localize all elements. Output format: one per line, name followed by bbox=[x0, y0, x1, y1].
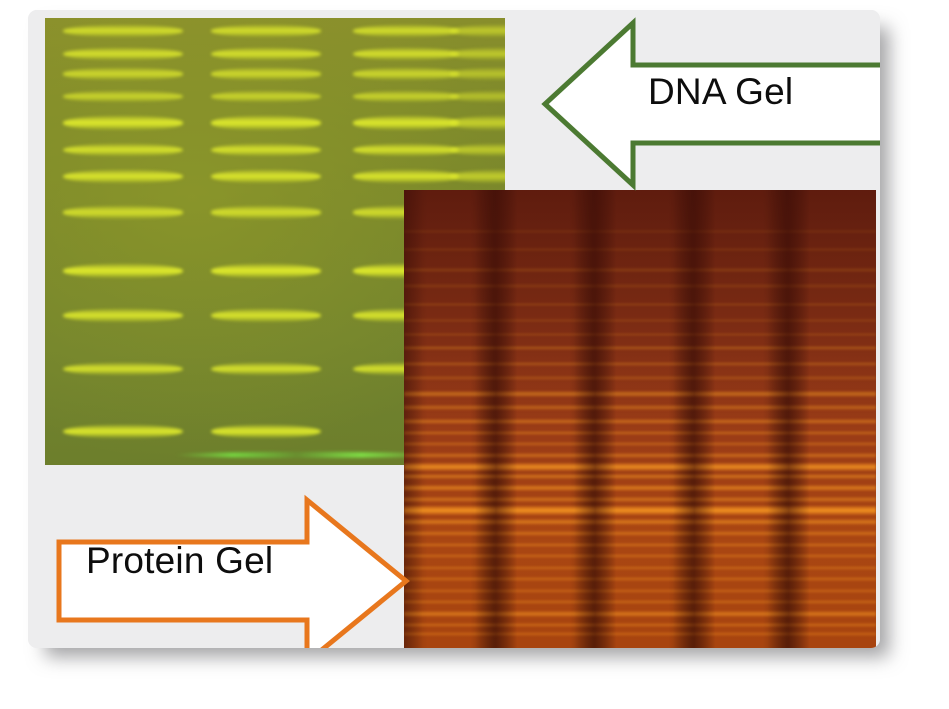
dna-gel-callout[interactable]: DNA Gel bbox=[533, 13, 880, 193]
dna-gel-band bbox=[63, 309, 183, 322]
protein-gel-image bbox=[404, 190, 876, 648]
dna-gel-band bbox=[211, 170, 321, 183]
dna-gel-band bbox=[63, 170, 183, 183]
dna-gel-band bbox=[353, 48, 459, 60]
dna-gel-band bbox=[211, 309, 321, 322]
dna-gel-band bbox=[353, 116, 459, 130]
dna-gel-band bbox=[63, 425, 183, 439]
dna-gel-band bbox=[63, 116, 183, 130]
slide-canvas: DNA Gel Protein Gel bbox=[0, 0, 949, 709]
dna-gel-band bbox=[63, 91, 183, 102]
dna-gel-band bbox=[353, 25, 459, 37]
dna-gel-band bbox=[450, 48, 505, 60]
protein-gel-top-shade bbox=[404, 190, 876, 648]
dna-gel-band bbox=[211, 48, 321, 60]
dna-gel-band bbox=[450, 68, 505, 79]
dna-gel-band bbox=[450, 170, 505, 183]
dna-gel-band bbox=[211, 91, 321, 102]
dna-gel-band bbox=[353, 68, 459, 79]
protein-gel-callout[interactable]: Protein Gel bbox=[54, 490, 414, 648]
dna-gel-band bbox=[63, 25, 183, 37]
slide-card-inner: DNA Gel Protein Gel bbox=[28, 10, 880, 648]
dna-gel-band bbox=[211, 425, 321, 439]
dna-gel-band bbox=[353, 91, 459, 102]
dna-gel-band bbox=[353, 144, 459, 157]
dna-gel-band bbox=[63, 206, 183, 218]
dna-gel-band bbox=[63, 264, 183, 278]
dna-gel-band bbox=[211, 206, 321, 218]
protein-gel-callout-label: Protein Gel bbox=[86, 540, 273, 582]
dna-gel-band bbox=[211, 363, 321, 376]
dna-gel-band bbox=[63, 144, 183, 157]
dna-gel-dye-front bbox=[174, 452, 441, 458]
dna-gel-band bbox=[450, 144, 505, 157]
dna-gel-band bbox=[63, 68, 183, 79]
dna-gel-band bbox=[211, 68, 321, 79]
dna-gel-band bbox=[450, 25, 505, 37]
dna-gel-band bbox=[63, 363, 183, 376]
dna-gel-band bbox=[211, 116, 321, 130]
dna-gel-band bbox=[211, 264, 321, 278]
dna-gel-band bbox=[450, 116, 505, 130]
dna-gel-band bbox=[211, 144, 321, 157]
dna-gel-callout-label: DNA Gel bbox=[648, 71, 793, 113]
dna-gel-band bbox=[353, 170, 459, 183]
dna-gel-band bbox=[450, 91, 505, 102]
dna-gel-band bbox=[211, 25, 321, 37]
slide-card: DNA Gel Protein Gel bbox=[28, 10, 880, 648]
dna-gel-band bbox=[63, 48, 183, 60]
